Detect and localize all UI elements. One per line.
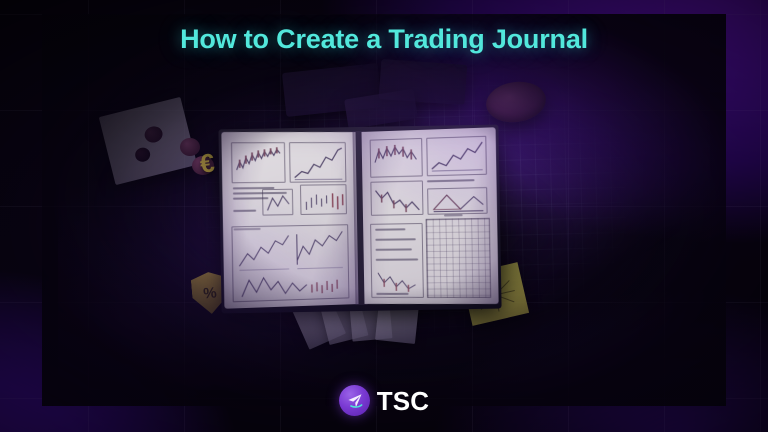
vignette (0, 0, 768, 432)
page-title: How to Create a Trading Journal (0, 24, 768, 55)
brand-name: TSC (377, 388, 430, 414)
brand-logo: TSC (0, 385, 768, 416)
slide-canvas: € % $ (0, 0, 768, 432)
paper-plane-icon (339, 385, 370, 416)
